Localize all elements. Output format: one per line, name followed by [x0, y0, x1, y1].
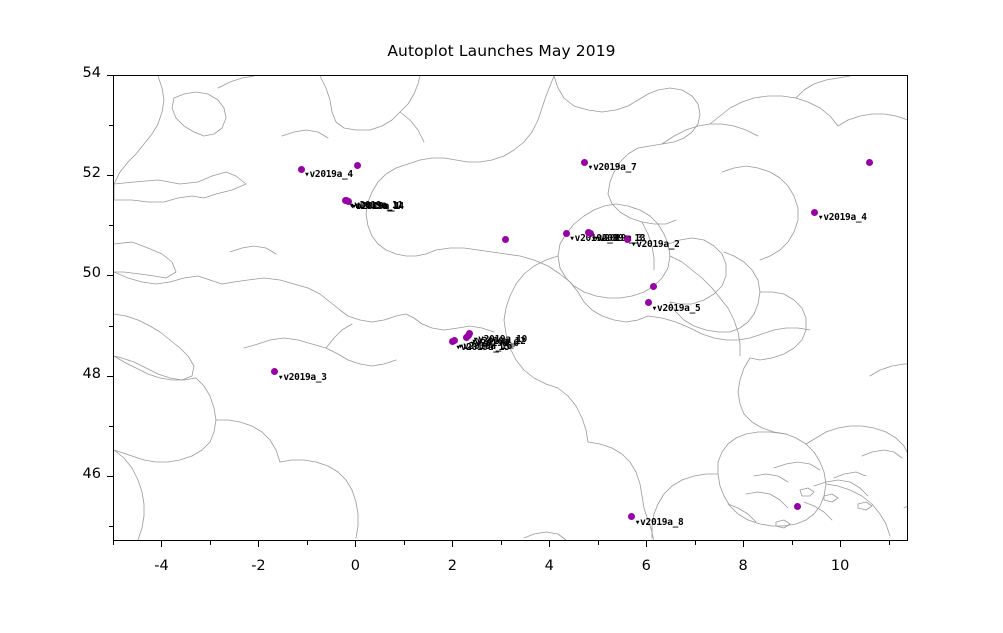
- chart-title: Autoplot Launches May 2019: [0, 42, 1003, 60]
- x-tick-major: [355, 541, 356, 547]
- x-tick-minor: [501, 541, 502, 545]
- coastline-map: [114, 76, 908, 541]
- y-tick-label: 52: [45, 165, 101, 181]
- y-tick-major: [107, 376, 113, 377]
- scatter-point-marker[interactable]: [502, 236, 509, 243]
- x-tick-minor: [695, 541, 696, 545]
- x-tick-major: [743, 541, 744, 547]
- scatter-point-marker[interactable]: [866, 159, 873, 166]
- scatter-point-label: ▾v2019a_4: [818, 213, 867, 223]
- scatter-point-label: ▾v2019a_16: [458, 342, 512, 352]
- x-tick-minor: [889, 541, 890, 545]
- x-tick-label: 4: [519, 558, 579, 574]
- x-tick-label: 8: [713, 558, 773, 574]
- scatter-point-label: ▾v2019a_4: [304, 170, 353, 180]
- y-tick-major: [107, 75, 113, 76]
- x-tick-label: -4: [131, 558, 191, 574]
- y-tick-major: [107, 175, 113, 176]
- x-tick-label: -2: [228, 558, 288, 574]
- x-tick-minor: [210, 541, 211, 545]
- x-tick-major: [161, 541, 162, 547]
- x-tick-minor: [598, 541, 599, 545]
- plot-axes-frame: [113, 75, 908, 541]
- x-tick-label: 2: [422, 558, 482, 574]
- matplotlib-figure: Autoplot Launches May 2019: [0, 0, 1003, 633]
- x-tick-minor: [113, 541, 114, 545]
- x-tick-minor: [307, 541, 308, 545]
- x-tick-label: 10: [810, 558, 870, 574]
- y-tick-minor: [109, 426, 113, 427]
- x-tick-major: [549, 541, 550, 547]
- coastline-paths: [114, 76, 908, 541]
- scatter-point-marker[interactable]: [650, 283, 657, 290]
- y-tick-major: [107, 476, 113, 477]
- scatter-point-label: ▾v2019a_2: [631, 240, 680, 250]
- x-tick-minor: [792, 541, 793, 545]
- scatter-point-label: ▾v2019a_1: [351, 202, 400, 212]
- x-tick-major: [258, 541, 259, 547]
- x-tick-minor: [404, 541, 405, 545]
- scatter-point-label: ▾v2019a_8: [635, 518, 684, 528]
- y-tick-major: [107, 275, 113, 276]
- scatter-point-marker[interactable]: [354, 162, 361, 169]
- y-tick-label: 46: [45, 466, 101, 482]
- y-tick-minor: [109, 526, 113, 527]
- y-tick-minor: [109, 125, 113, 126]
- scatter-point-label: ▾v2019a_5: [652, 304, 701, 314]
- scatter-point-label: ▾v2019a_7: [588, 163, 637, 173]
- y-tick-label: 54: [45, 65, 101, 81]
- y-tick-label: 48: [45, 366, 101, 382]
- y-tick-label: 50: [45, 265, 101, 281]
- x-tick-label: 6: [616, 558, 676, 574]
- y-tick-minor: [109, 326, 113, 327]
- scatter-point-label: ▾v2019a_3: [278, 373, 327, 383]
- x-tick-major: [452, 541, 453, 547]
- y-tick-minor: [109, 225, 113, 226]
- x-tick-label: 0: [325, 558, 385, 574]
- x-tick-major: [646, 541, 647, 547]
- x-tick-major: [840, 541, 841, 547]
